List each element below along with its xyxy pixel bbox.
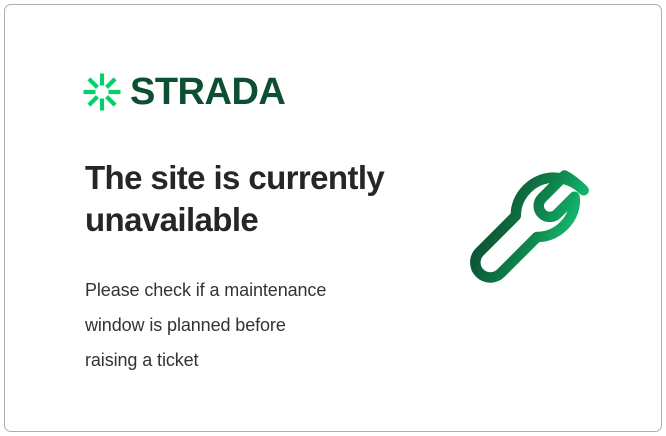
description-line: window is planned before (85, 308, 395, 343)
description-line: Please check if a maintenance (85, 273, 395, 308)
brand-wordmark: STRADA (130, 73, 285, 111)
wrench-icon (457, 157, 617, 317)
page-description: Please check if a maintenance window is … (85, 273, 395, 378)
maintenance-card: STRADA The site is currently unavailable… (4, 4, 662, 432)
wrench-illustration (457, 157, 617, 317)
description-line: raising a ticket (85, 343, 395, 378)
strada-asterisk-icon (83, 73, 121, 111)
page-title: The site is currently unavailable (85, 157, 425, 240)
brand-lockup: STRADA (83, 73, 285, 111)
